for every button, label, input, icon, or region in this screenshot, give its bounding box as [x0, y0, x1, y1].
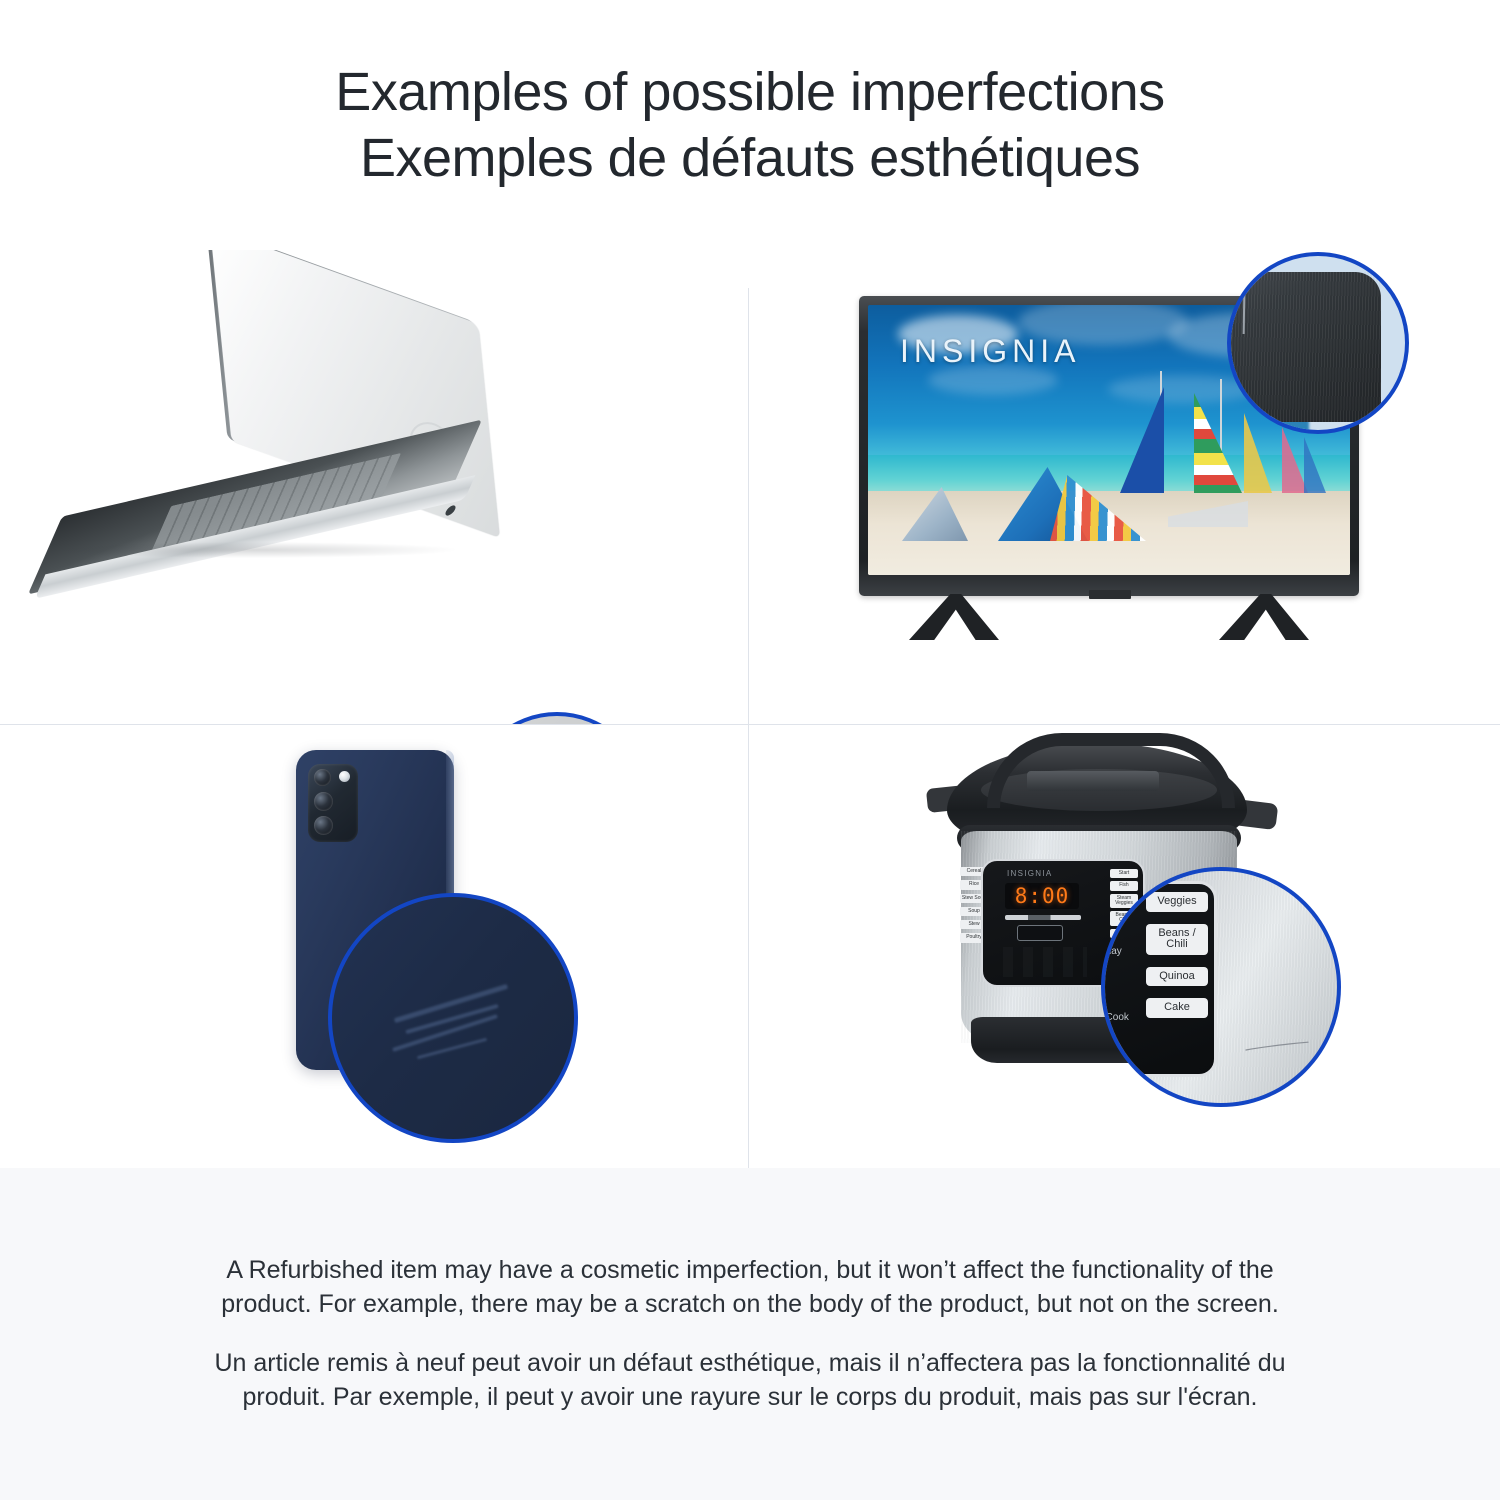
tv-brand-plate — [1089, 590, 1131, 599]
panel-television: INSIGNIA — [749, 250, 1500, 724]
phone-scratch-icon — [417, 1038, 487, 1060]
cooker-magnified-button[interactable]: Cake — [1146, 998, 1208, 1018]
cooker-magnified-button[interactable]: Quinoa — [1146, 967, 1208, 987]
footer-disclaimer: A Refurbished item may have a cosmetic i… — [0, 1168, 1500, 1500]
cooker-mode-window — [1017, 925, 1063, 941]
tv-scratch-icon — [1243, 292, 1246, 334]
camera-lens-icon — [314, 769, 331, 786]
camera-lens-icon — [314, 816, 333, 835]
cooker-timer-value: 8:00 — [1015, 884, 1070, 908]
cooker-magnified-button[interactable]: Slow Cook — [1101, 1012, 1136, 1023]
laptop-shadow — [51, 542, 459, 558]
laptop-illustration — [0, 250, 748, 724]
tv-magnified-bezel — [1227, 272, 1381, 422]
tv-magnifier-circle — [1227, 252, 1409, 434]
cooker-magnified-panel: Delay Slow Cook Veggies Beans / Chili Qu… — [1101, 881, 1217, 1077]
cooker-carry-handle — [987, 733, 1235, 808]
laptop-magnifier-circle — [467, 712, 647, 724]
phone-illustration — [0, 725, 748, 1168]
tv-stand-right — [1219, 594, 1309, 640]
cooker-magnifier-circle: Delay Slow Cook Veggies Beans / Chili Qu… — [1101, 867, 1341, 1107]
phone-camera-module — [308, 764, 358, 842]
tv-stand-left — [909, 594, 999, 640]
cooker-button[interactable]: Start — [1110, 869, 1138, 878]
panel-laptop — [0, 250, 748, 724]
cooker-illustration: Cereal Rice Stew Soup Soup Stew Poultry … — [749, 725, 1500, 1168]
cooker-pressure-slider[interactable] — [1005, 915, 1081, 920]
disclaimer-paragraph-fr: Un article remis à neuf peut avoir un dé… — [185, 1347, 1315, 1414]
tv-brand-logo: INSIGNIA — [900, 333, 1080, 370]
disclaimer-paragraph-en: A Refurbished item may have a cosmetic i… — [185, 1254, 1315, 1321]
cooker-scratch-icon — [1245, 1041, 1309, 1053]
cooker-magnified-button[interactable]: Veggies — [1146, 892, 1208, 912]
refurbished-imperfections-infographic: Examples of possible imperfections Exemp… — [0, 0, 1500, 1500]
panel-pressure-cooker: Cereal Rice Stew Soup Soup Stew Poultry … — [749, 725, 1500, 1168]
phone-magnifier-circle — [328, 893, 578, 1143]
cooker-inner-buttons[interactable] — [1003, 947, 1087, 977]
cooker-magnified-button[interactable]: Delay — [1101, 946, 1140, 957]
cooker-magnified-button-strip: Veggies Beans / Chili Quinoa Cake — [1146, 892, 1208, 1018]
product-examples-grid: INSIGNIA — [0, 250, 1500, 1168]
camera-lens-icon — [314, 792, 333, 811]
cooker-brand-label: INSIGNIA — [1007, 869, 1053, 878]
panel-smartphone — [0, 725, 748, 1168]
page-title-fr: Exemples de défauts esthétiques — [360, 128, 1140, 188]
cooker-magnified-button[interactable]: Beans / Chili — [1146, 924, 1208, 955]
page-title-en: Examples of possible imperfections — [335, 62, 1164, 122]
tv-illustration: INSIGNIA — [749, 250, 1500, 724]
cooker-display: 8:00 — [1005, 883, 1079, 909]
camera-flash-icon — [339, 771, 350, 782]
header: Examples of possible imperfections Exemp… — [0, 0, 1500, 250]
bezel-texture — [1227, 272, 1381, 422]
